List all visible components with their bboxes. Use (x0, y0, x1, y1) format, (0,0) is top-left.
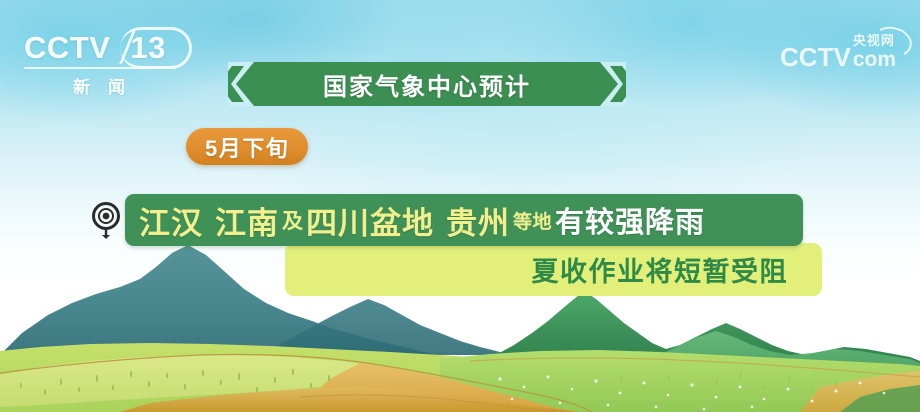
watermark-brand: CCTV (780, 44, 851, 70)
region-4-label: 贵州 (446, 198, 510, 243)
chevron-left-icon (600, 62, 626, 106)
forecast-text: 有较强降雨 (555, 199, 705, 241)
chevron-right-icon (228, 62, 254, 106)
subline-bar: 夏收作业将短暂受阻 (285, 243, 822, 296)
cctv-letters: CCTV (24, 32, 110, 63)
region-1-label: 江汉 (139, 198, 203, 243)
subline-text: 夏收作业将短暂受阻 (532, 250, 789, 289)
headline-connector: 及 (282, 205, 303, 235)
logo-sub-char-2: 闻 (108, 73, 127, 98)
region-2-label: 江南 (215, 198, 279, 243)
broadcast-graphic-frame: CCTV 13 新 闻 CCTV 央视网 com 国家气象中心预计 (0, 0, 920, 412)
cctv13-logo-subtitle: 新 闻 (24, 73, 176, 98)
logo-ring-accent (120, 27, 192, 69)
region-3-label: 四川盆地 (306, 198, 434, 243)
header-banner: 国家气象中心预计 (228, 62, 626, 106)
cctv13-channel-logo: CCTV 13 新 闻 (24, 30, 194, 92)
headline-bar: 江汉 江南 及 四川盆地 贵州 等地 有较强降雨 (125, 194, 803, 246)
headline-suffix: 等地 (513, 207, 552, 234)
cctv-com-watermark: CCTV 央视网 com (780, 34, 896, 70)
location-pin-icon (90, 201, 122, 239)
date-range-label: 5月下旬 (205, 131, 289, 163)
date-range-badge: 5月下旬 (186, 128, 308, 165)
header-banner-text: 国家气象中心预计 (323, 67, 531, 102)
logo-sub-char-1: 新 (73, 73, 92, 98)
